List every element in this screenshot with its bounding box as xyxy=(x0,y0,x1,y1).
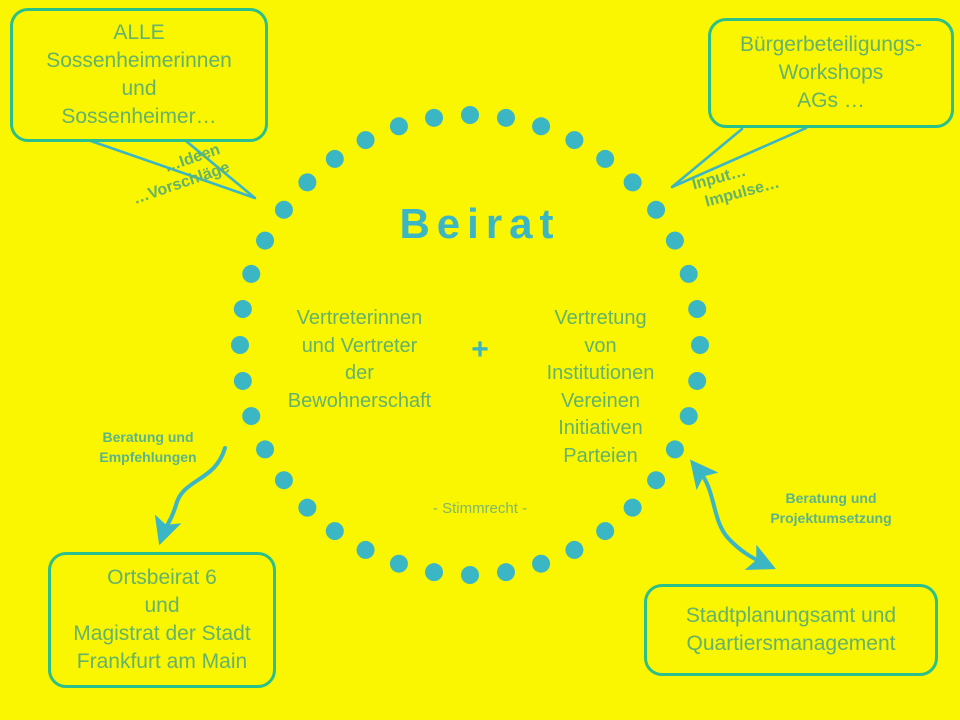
bubble-line: AGs … xyxy=(740,87,922,115)
ring-dot xyxy=(497,563,515,581)
label-line: Empfehlungen xyxy=(99,449,196,465)
bubble-text: ALLE Sossenheimerinnen und Sossenheimer… xyxy=(46,19,232,131)
bubble-line: Stadtplanungsamt und xyxy=(686,602,896,630)
bubble-line: Sossenheimerinnen xyxy=(46,47,232,75)
ring-dot xyxy=(390,555,408,573)
bubble-line: ALLE xyxy=(46,19,232,47)
ring-dot xyxy=(326,150,344,168)
ring-dot xyxy=(565,131,583,149)
ring-dot xyxy=(425,563,443,581)
ring-dot xyxy=(532,117,550,135)
ring-dot xyxy=(624,173,642,191)
bubble-stadtplanungsamt-quartiersmanagement: Stadtplanungsamt und Quartiersmanagement xyxy=(644,584,938,676)
diagram-canvas: Beirat Vertreterinnen und Vertreter der … xyxy=(0,0,960,720)
bubble-line: Workshops xyxy=(740,59,922,87)
column-line: und Vertreter xyxy=(262,333,457,361)
bubble-text: Stadtplanungsamt und Quartiersmanagement xyxy=(686,602,896,658)
bubble-line: und xyxy=(46,75,232,103)
ring-dot xyxy=(461,106,479,124)
label-beratung-und-projektumsetzung: Beratung und Projektumsetzung xyxy=(742,488,920,529)
bubble-line: Sossenheimer… xyxy=(46,103,232,131)
bubble-line: Frankfurt am Main xyxy=(73,648,250,676)
ring-dot xyxy=(532,555,550,573)
center-columns: Vertreterinnen und Vertreter der Bewohne… xyxy=(240,305,720,471)
bubble-text: Ortsbeirat 6 und Magistrat der Stadt Fra… xyxy=(73,564,250,676)
ring-dot xyxy=(275,471,293,489)
bubble-line: Magistrat der Stadt xyxy=(73,620,250,648)
ring-dot xyxy=(242,265,260,283)
ring-dot xyxy=(390,117,408,135)
ring-dot xyxy=(357,541,375,559)
column-line: Vereinen xyxy=(503,388,698,416)
bubble-ortsbeirat-magistrat: Ortsbeirat 6 und Magistrat der Stadt Fra… xyxy=(48,552,276,688)
column-line: Vertretung xyxy=(503,305,698,333)
ring-dot xyxy=(647,471,665,489)
bubble-line: Ortsbeirat 6 xyxy=(73,564,250,592)
column-line: Bewohnerschaft xyxy=(262,388,457,416)
bubble-line: und xyxy=(73,592,250,620)
label-line: Beratung und xyxy=(786,490,877,506)
bubble-alle-sossenheimer: ALLE Sossenheimerinnen und Sossenheimer… xyxy=(10,8,268,142)
ring-dot xyxy=(425,109,443,127)
label-beratung-und-empfehlungen: Beratung und Empfehlungen xyxy=(78,427,218,468)
label-line: Projektumsetzung xyxy=(770,510,891,526)
ring-dot xyxy=(298,173,316,191)
ring-dot xyxy=(596,150,614,168)
ring-dot xyxy=(461,566,479,584)
bubble-line: Quartiersmanagement xyxy=(686,630,896,658)
column-bewohnerschaft: Vertreterinnen und Vertreter der Bewohne… xyxy=(262,305,457,415)
ring-dot xyxy=(497,109,515,127)
label-line: Beratung und xyxy=(103,429,194,445)
column-line: Institutionen xyxy=(503,360,698,388)
column-line: Initiativen xyxy=(503,415,698,443)
ring-dot xyxy=(357,131,375,149)
ring-dot xyxy=(596,522,614,540)
column-line: von xyxy=(503,333,698,361)
plus-icon: + xyxy=(457,305,503,365)
bubble-line: Bürgerbeteiligungs- xyxy=(740,31,922,59)
bubble-buergerbeteiligungs-workshops: Bürgerbeteiligungs- Workshops AGs … xyxy=(708,18,954,128)
column-institutionen: Vertretung von Institutionen Vereinen In… xyxy=(503,305,698,471)
bubble-text: Bürgerbeteiligungs- Workshops AGs … xyxy=(740,31,922,115)
column-line: Vertreterinnen xyxy=(262,305,457,333)
ring-dot xyxy=(565,541,583,559)
ring-dot xyxy=(326,522,344,540)
ring-dot xyxy=(680,265,698,283)
column-line: der xyxy=(262,360,457,388)
column-line: Parteien xyxy=(503,443,698,471)
